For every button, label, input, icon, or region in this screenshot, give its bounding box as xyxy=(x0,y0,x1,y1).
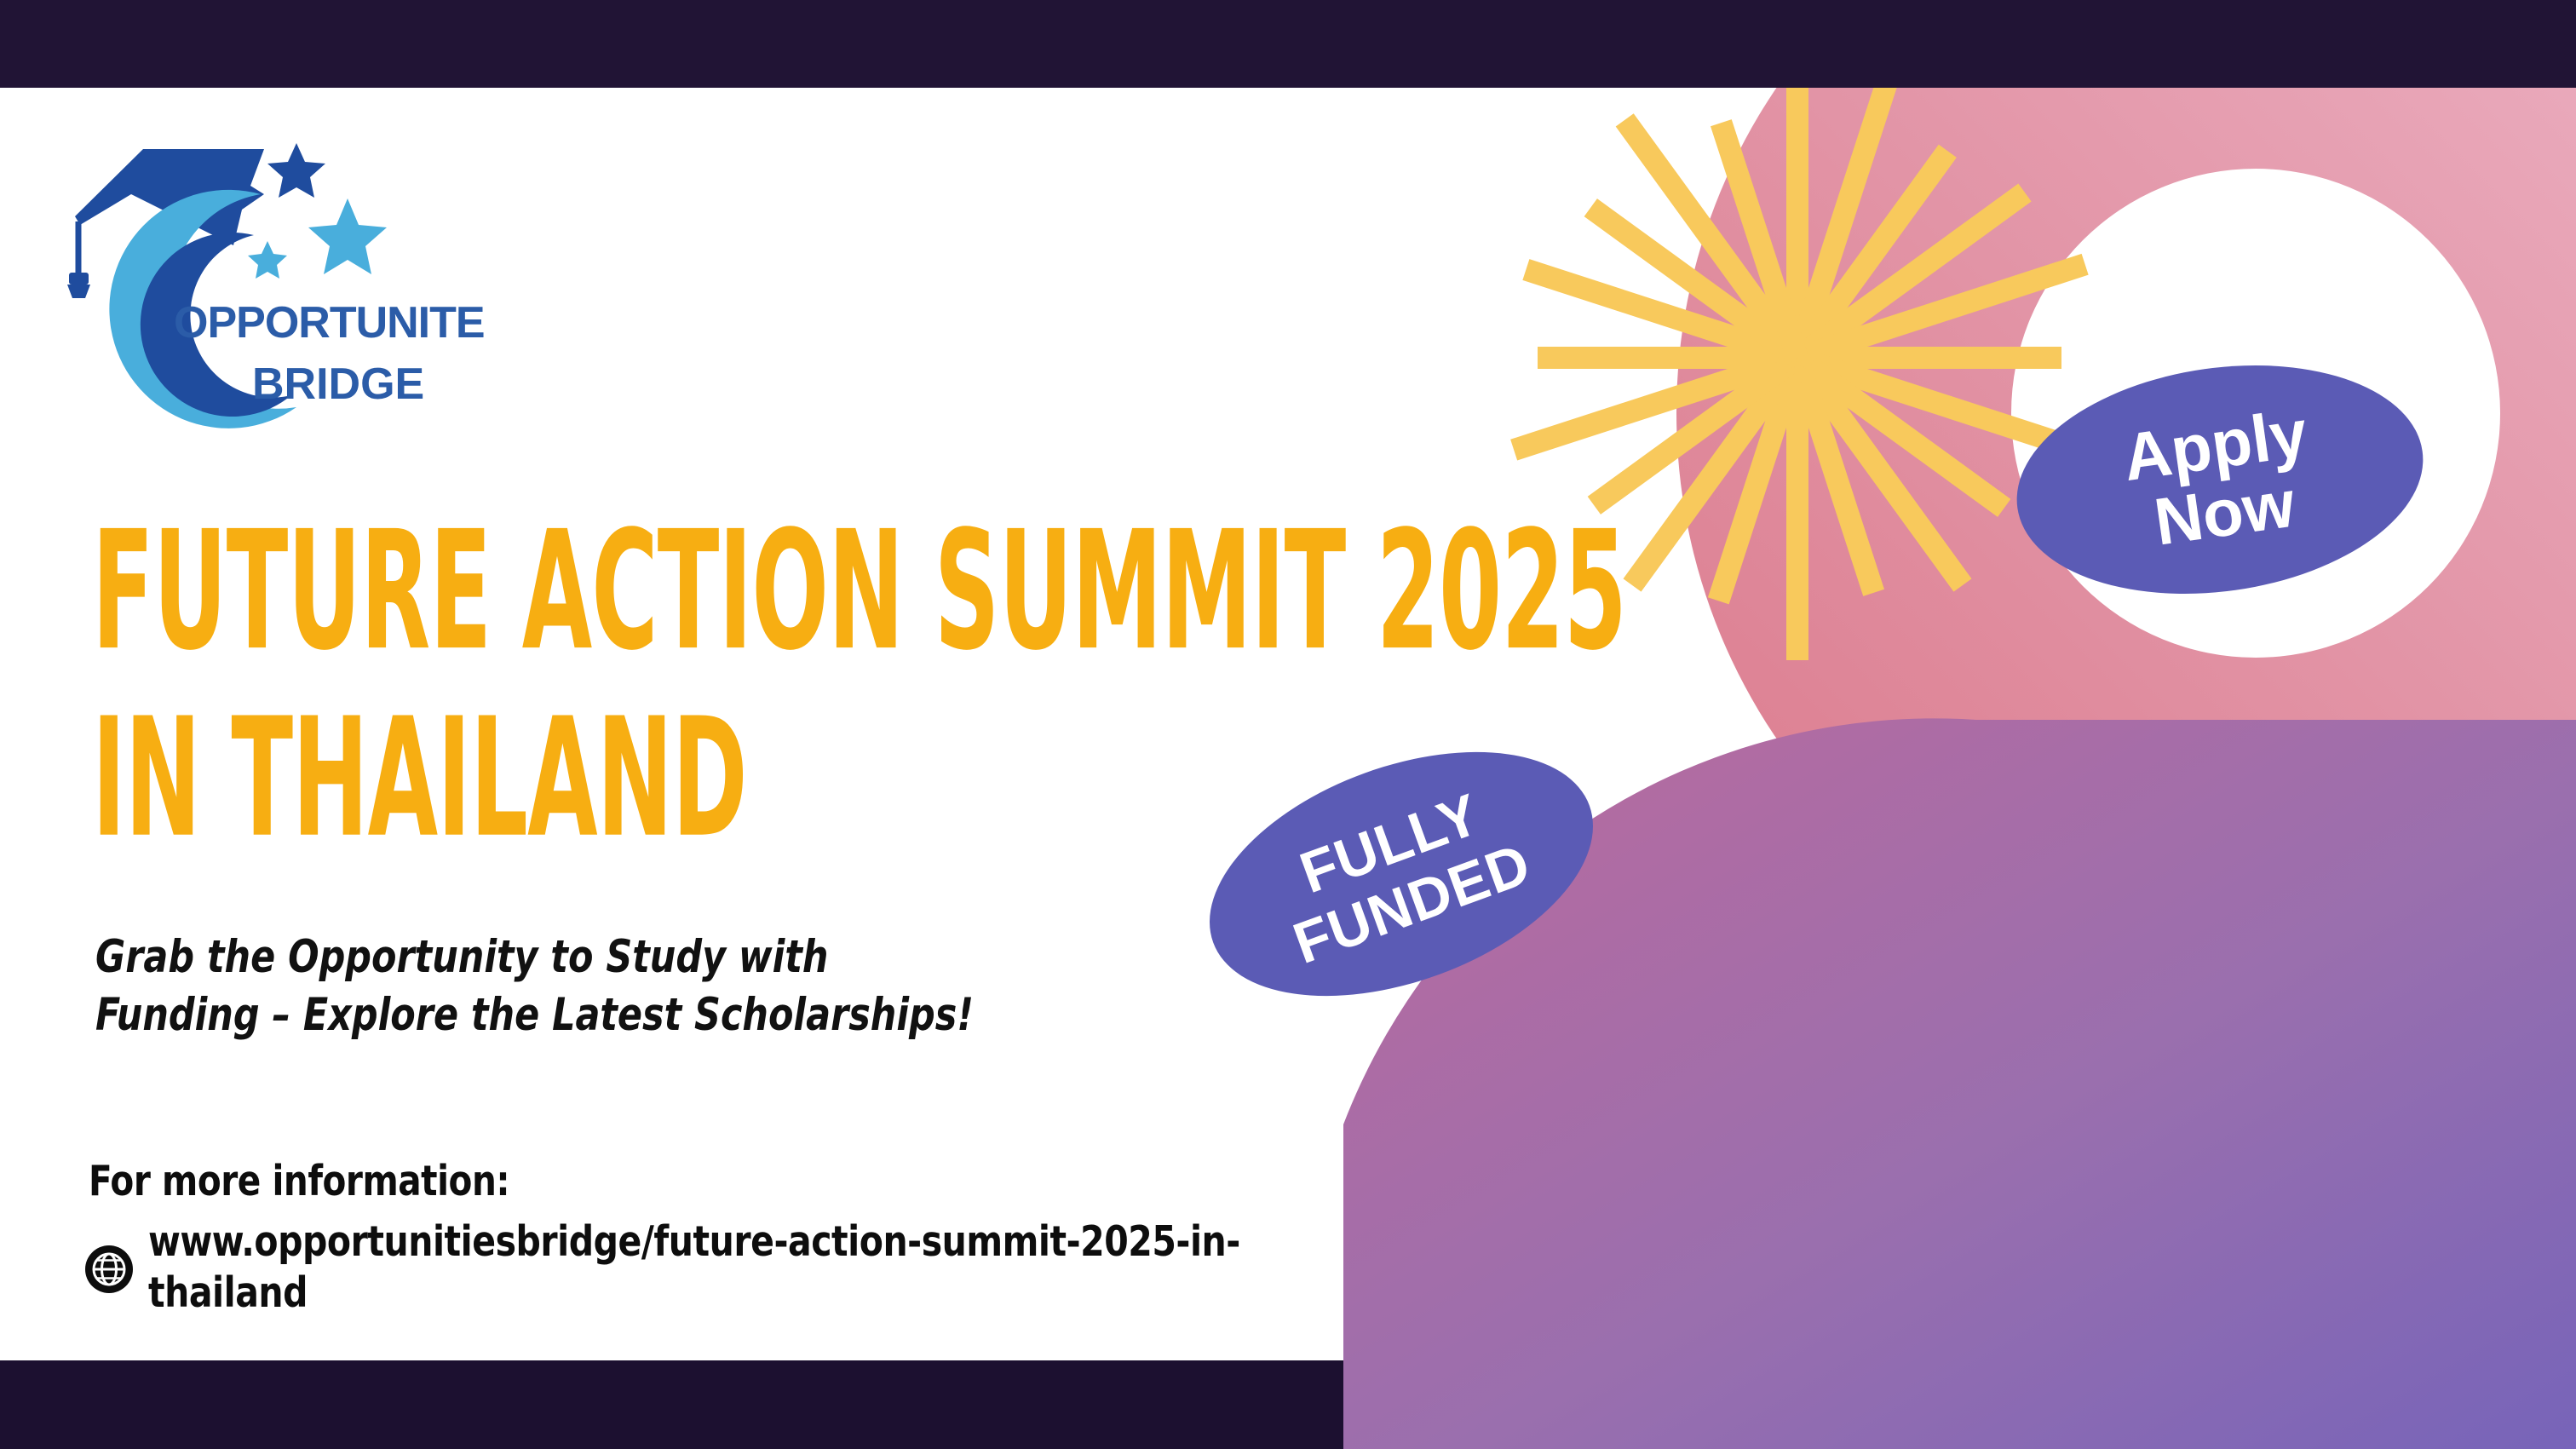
top-accent-bar xyxy=(0,0,2576,88)
subheadline-line-2: Funding – Explore the Latest Scholarship… xyxy=(95,986,1092,1044)
subheadline: Grab the Opportunity to Study with Fundi… xyxy=(95,929,1092,1044)
website-url[interactable]: www.opportunitiesbridge/future-action-su… xyxy=(148,1216,1241,1319)
more-information-label: For more information: xyxy=(89,1157,509,1205)
headline-line-2: IN THAILAND xyxy=(92,704,1441,852)
apply-now-badge[interactable]: Apply Now xyxy=(2002,341,2438,618)
page-title: FUTURE ACTION SUMMIT 2025 IN THAILAND xyxy=(92,518,1441,852)
globe-icon xyxy=(85,1245,133,1293)
subheadline-line-1: Grab the Opportunity to Study with xyxy=(95,929,1092,986)
copy-column: FUTURE ACTION SUMMIT 2025 IN THAILAND Gr… xyxy=(0,0,1363,1449)
website-row[interactable]: www.opportunitiesbridge/future-action-su… xyxy=(85,1216,1337,1319)
promo-banner: OPPORTUNITES BRIDGE FUTURE ACTION SUMMIT… xyxy=(0,0,2576,1449)
headline-line-1: FUTURE ACTION SUMMIT 2025 xyxy=(92,518,1441,665)
